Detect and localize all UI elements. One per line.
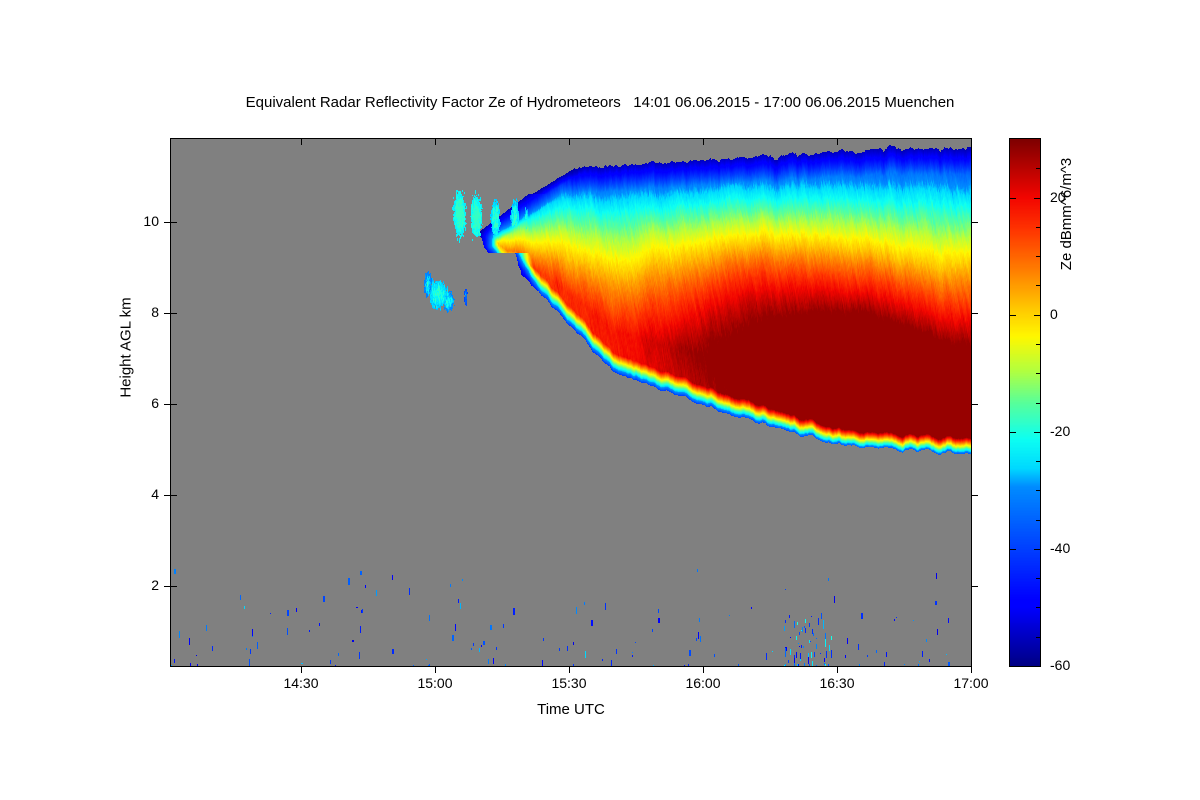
y-tick-mark — [164, 404, 171, 405]
y-tick-mark — [164, 313, 171, 314]
radar-heatmap-canvas — [171, 139, 971, 666]
colorbar-minor-tick — [1036, 168, 1040, 169]
x-tick-label: 17:00 — [931, 675, 1011, 691]
y-tick-mark — [171, 404, 177, 405]
colorbar-tick-label: -20 — [1050, 423, 1070, 439]
y-tick-mark — [971, 404, 978, 405]
x-tick-mark — [971, 666, 972, 673]
y-tick-mark — [971, 586, 978, 587]
x-axis-title: Time UTC — [171, 701, 971, 718]
x-tick-label: 15:00 — [395, 675, 475, 691]
y-tick-mark — [171, 313, 177, 314]
x-tick-mark — [971, 139, 972, 145]
y-axis-title: Height AGL km — [118, 268, 135, 428]
colorbar-tick-mark — [1010, 315, 1016, 316]
colorbar-minor-tick — [1036, 520, 1040, 521]
colorbar-tick-label: 0 — [1050, 306, 1058, 322]
x-tick-mark — [837, 666, 838, 673]
colorbar-tick-label: -60 — [1050, 657, 1070, 673]
colorbar-tick-mark — [1034, 549, 1040, 550]
page-title: Equivalent Radar Reflectivity Factor Ze … — [0, 94, 1200, 111]
colorbar-tick-mark — [1034, 666, 1040, 667]
colorbar-tick-mark — [1034, 315, 1040, 316]
x-tick-mark — [837, 139, 838, 145]
y-tick-mark — [971, 222, 978, 223]
x-tick-mark — [435, 666, 436, 673]
x-tick-label: 16:00 — [663, 675, 743, 691]
y-tick-mark — [971, 313, 978, 314]
y-tick-mark — [164, 495, 171, 496]
colorbar-minor-tick — [1036, 607, 1040, 608]
y-tick-mark — [971, 495, 978, 496]
colorbar-minor-tick — [1036, 285, 1040, 286]
x-tick-mark — [435, 139, 436, 145]
colorbar-tick-mark — [1010, 432, 1016, 433]
colorbar-minor-tick — [1036, 256, 1040, 257]
colorbar-minor-tick — [1036, 461, 1040, 462]
x-tick-mark — [569, 139, 570, 145]
x-tick-mark — [301, 139, 302, 145]
colorbar-tick-mark — [1010, 198, 1016, 199]
y-tick-mark — [171, 586, 177, 587]
y-tick-mark — [171, 495, 177, 496]
radar-figure: Equivalent Radar Reflectivity Factor Ze … — [0, 0, 1200, 800]
plot-area[interactable]: 24681014:3015:0015:3016:0016:3017:00 Hei… — [170, 138, 972, 667]
x-tick-label: 15:30 — [529, 675, 609, 691]
colorbar-minor-tick — [1036, 403, 1040, 404]
y-tick-label: 10 — [109, 213, 159, 229]
y-tick-label: 2 — [109, 577, 159, 593]
x-tick-mark — [301, 666, 302, 673]
colorbar-minor-tick — [1036, 344, 1040, 345]
colorbar[interactable]: 200-20-40-60 Ze dBmm^6/m^3 — [1009, 138, 1041, 667]
x-tick-mark — [703, 139, 704, 145]
colorbar-tick-mark — [1034, 198, 1040, 199]
colorbar-minor-tick — [1036, 490, 1040, 491]
x-tick-label: 16:30 — [797, 675, 877, 691]
y-tick-mark — [164, 222, 171, 223]
colorbar-tick-mark — [1034, 432, 1040, 433]
colorbar-tick-label: -40 — [1050, 540, 1070, 556]
x-tick-mark — [703, 666, 704, 673]
y-tick-label: 4 — [109, 486, 159, 502]
x-tick-label: 14:30 — [261, 675, 341, 691]
colorbar-tick-mark — [1010, 549, 1016, 550]
x-tick-mark — [569, 666, 570, 673]
colorbar-minor-tick — [1036, 373, 1040, 374]
colorbar-minor-tick — [1036, 578, 1040, 579]
y-tick-mark — [171, 222, 177, 223]
y-tick-mark — [164, 586, 171, 587]
colorbar-minor-tick — [1036, 227, 1040, 228]
colorbar-tick-mark — [1010, 666, 1016, 667]
colorbar-title: Ze dBmm^6/m^3 — [1058, 119, 1075, 309]
colorbar-minor-tick — [1036, 637, 1040, 638]
